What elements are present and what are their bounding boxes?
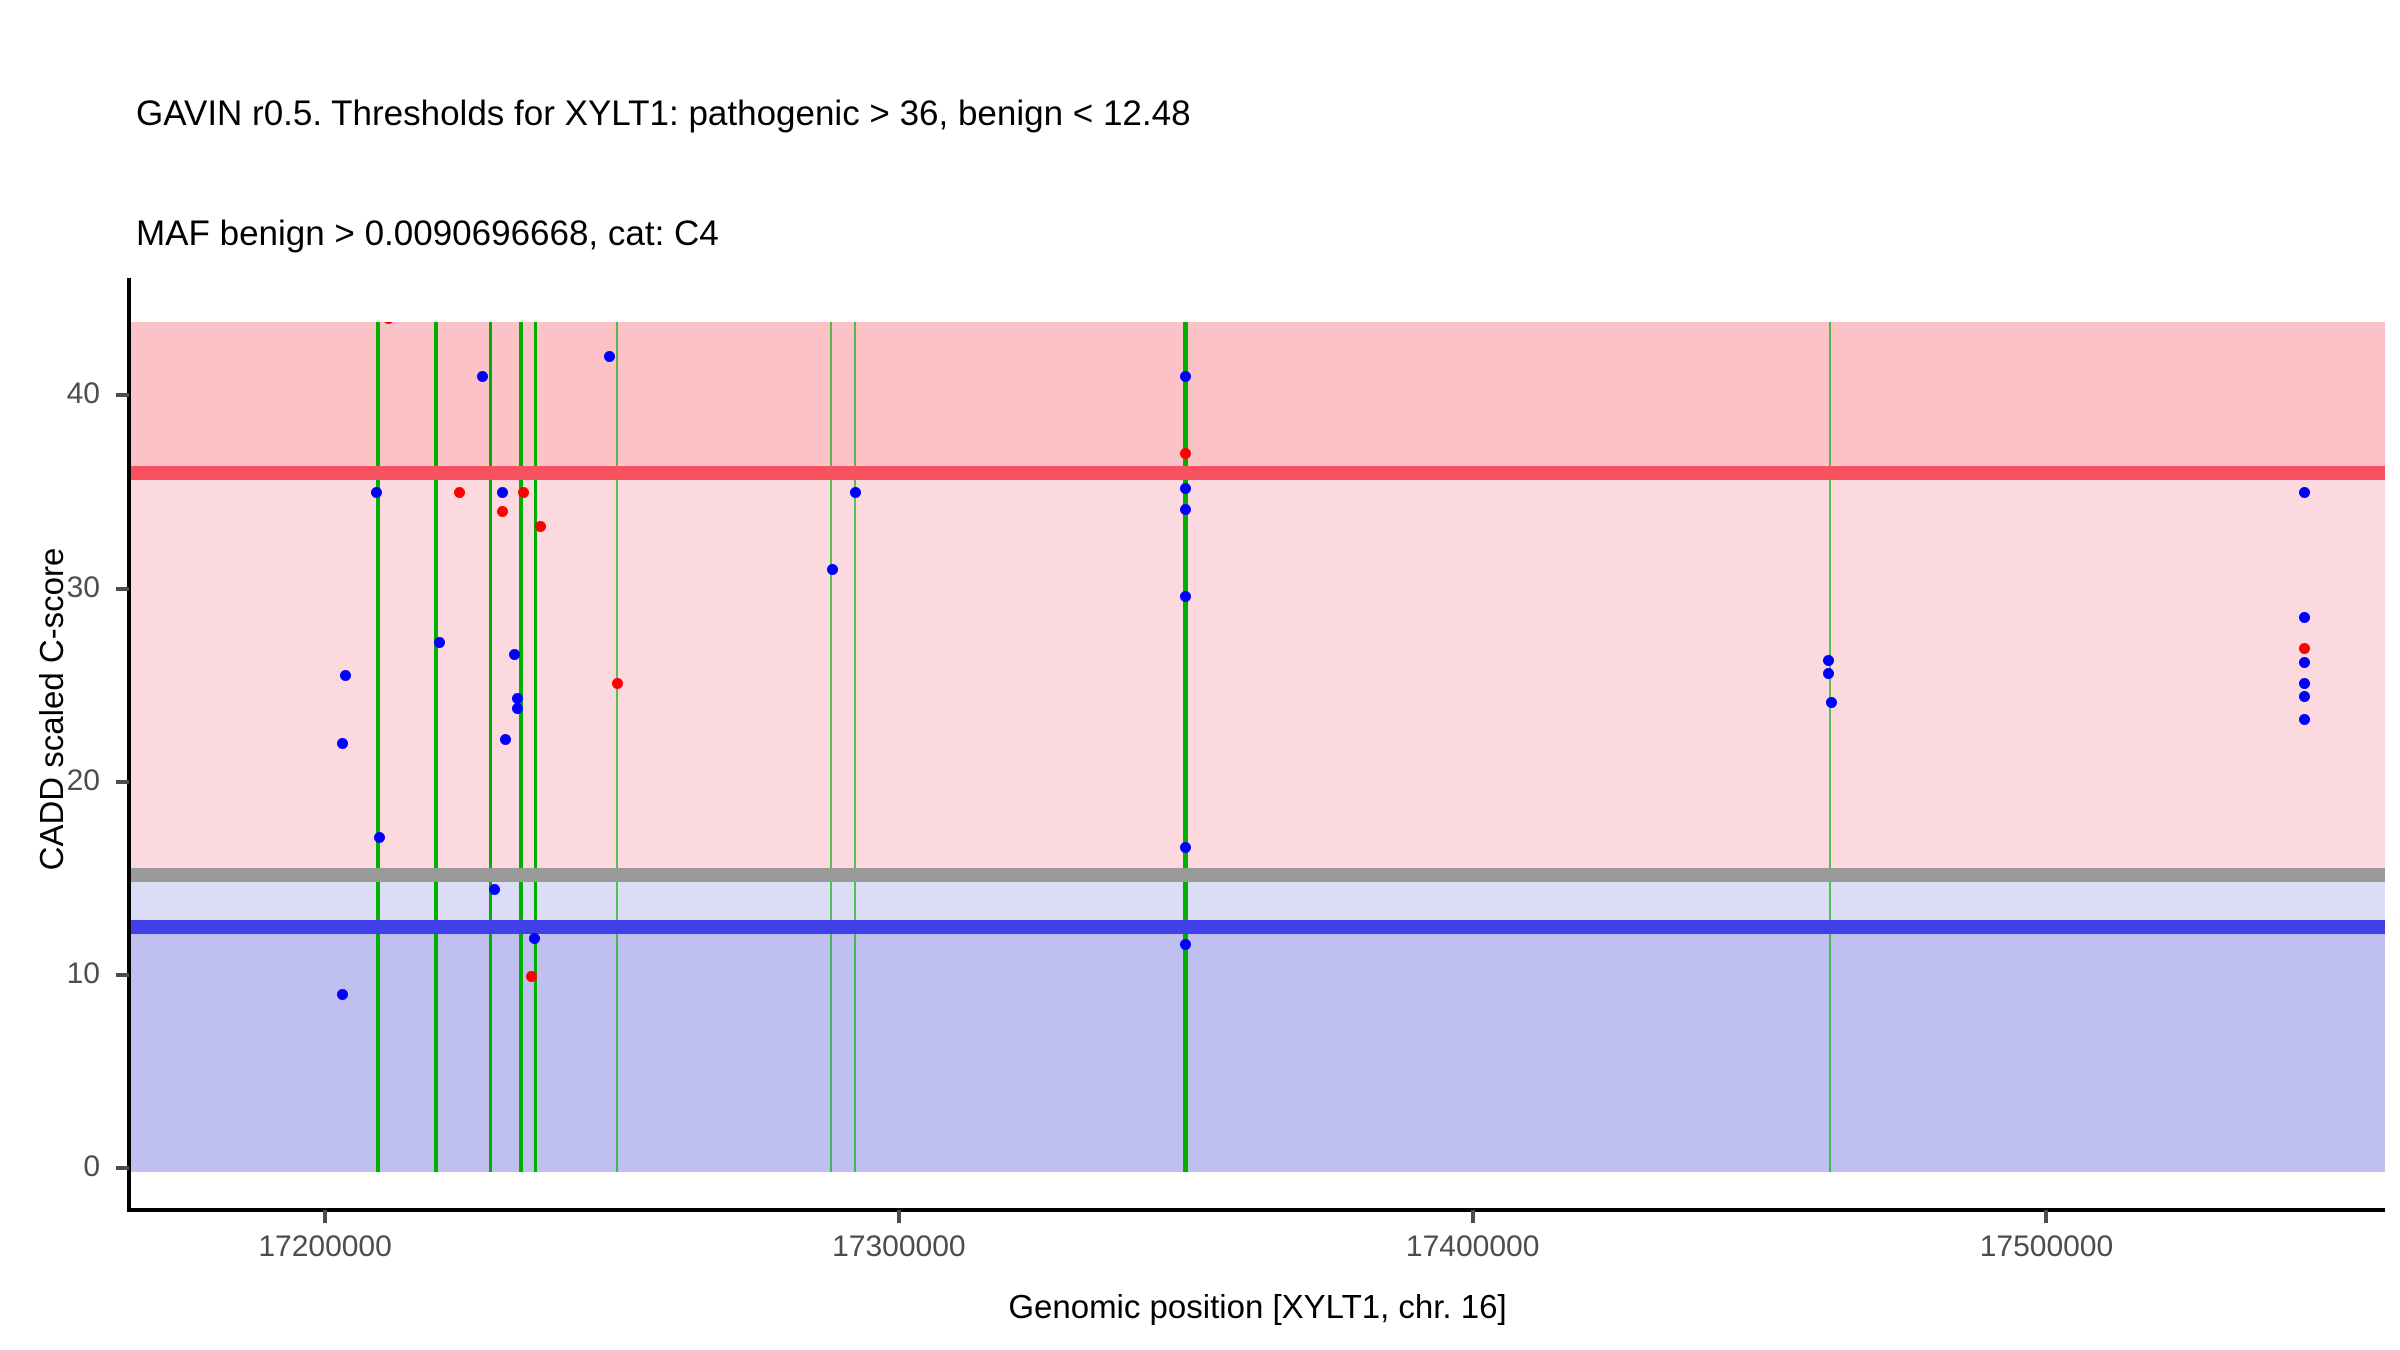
gnomad-variant-point xyxy=(1180,939,1191,950)
title-line-1: GAVIN r0.5. Thresholds for XYLT1: pathog… xyxy=(136,94,2366,134)
band-benign-band xyxy=(130,927,2385,1172)
gnomad-variant-point xyxy=(1823,655,1834,666)
threshold-line-genome-wide-fallback-threshold xyxy=(130,868,2385,882)
band-vous-upper-band xyxy=(130,473,2385,875)
x-axis-tick-label: 17500000 xyxy=(1896,1230,2196,1264)
plot-panel xyxy=(130,322,2385,1172)
gnomad-variant-point xyxy=(477,371,488,382)
clinvar-pathogenic-point xyxy=(454,487,465,498)
gnomad-variant-point xyxy=(512,703,523,714)
x-axis-tick-label: 17300000 xyxy=(749,1230,1049,1264)
threshold-line-pathogenic-threshold xyxy=(130,466,2385,480)
refseq-exon-line xyxy=(1829,322,1831,1172)
y-axis-tick xyxy=(116,393,129,397)
gnomad-variant-point xyxy=(529,933,540,944)
gnomad-variant-point xyxy=(337,738,348,749)
gnomad-variant-point xyxy=(2299,657,2310,668)
clinvar-pathogenic-point xyxy=(612,678,623,689)
gnomad-variant-point xyxy=(604,351,615,362)
y-axis-tick xyxy=(116,780,129,784)
y-axis-title: CADD scaled C-score xyxy=(33,329,71,1089)
gnomad-variant-point xyxy=(1823,668,1834,679)
clinvar-pathogenic-point xyxy=(535,521,546,532)
gnomad-variant-point xyxy=(2299,487,2310,498)
x-axis-title: Genomic position [XYLT1, chr. 16] xyxy=(130,1288,2385,1326)
refseq-exon-line xyxy=(854,322,856,1172)
y-axis-tick-label: 0 xyxy=(0,1152,100,1182)
x-axis-tick-label: 17400000 xyxy=(1323,1230,1623,1264)
gnomad-variant-point xyxy=(850,487,861,498)
threshold-line-benign-threshold xyxy=(130,920,2385,934)
gnomad-variant-point xyxy=(497,487,508,498)
gnomad-variant-point xyxy=(1180,483,1191,494)
y-axis-tick xyxy=(116,587,129,591)
refseq-exon-line xyxy=(519,322,523,1172)
title-line-2: MAF benign > 0.0090696668, cat: C4 xyxy=(136,214,2366,254)
y-axis-line xyxy=(127,278,131,1212)
x-axis-tick-label: 17200000 xyxy=(175,1230,475,1264)
clinvar-pathogenic-point xyxy=(518,487,529,498)
chart-root: GAVIN r0.5. Thresholds for XYLT1: pathog… xyxy=(0,0,2400,1350)
gnomad-variant-point xyxy=(1180,371,1191,382)
gnomad-variant-point xyxy=(340,670,351,681)
refseq-exon-line xyxy=(534,322,537,1172)
gnomad-variant-point xyxy=(2299,678,2310,689)
refseq-exon-line xyxy=(616,322,618,1172)
gnomad-variant-point xyxy=(509,649,520,660)
y-axis-tick xyxy=(116,1166,129,1170)
y-axis-tick xyxy=(116,973,129,977)
refseq-exon-line xyxy=(830,322,832,1172)
x-axis-tick xyxy=(897,1210,901,1223)
refseq-exon-line xyxy=(434,322,438,1172)
x-axis-tick xyxy=(1471,1210,1475,1223)
x-axis-tick xyxy=(2044,1210,2048,1223)
gnomad-variant-point xyxy=(371,487,382,498)
band-pathogenic-band xyxy=(130,322,2385,473)
gnomad-variant-point xyxy=(1826,697,1837,708)
gnomad-variant-point xyxy=(337,989,348,1000)
refseq-exon-line xyxy=(489,322,492,1172)
x-axis-tick xyxy=(323,1210,327,1223)
refseq-exon-line xyxy=(376,322,380,1172)
